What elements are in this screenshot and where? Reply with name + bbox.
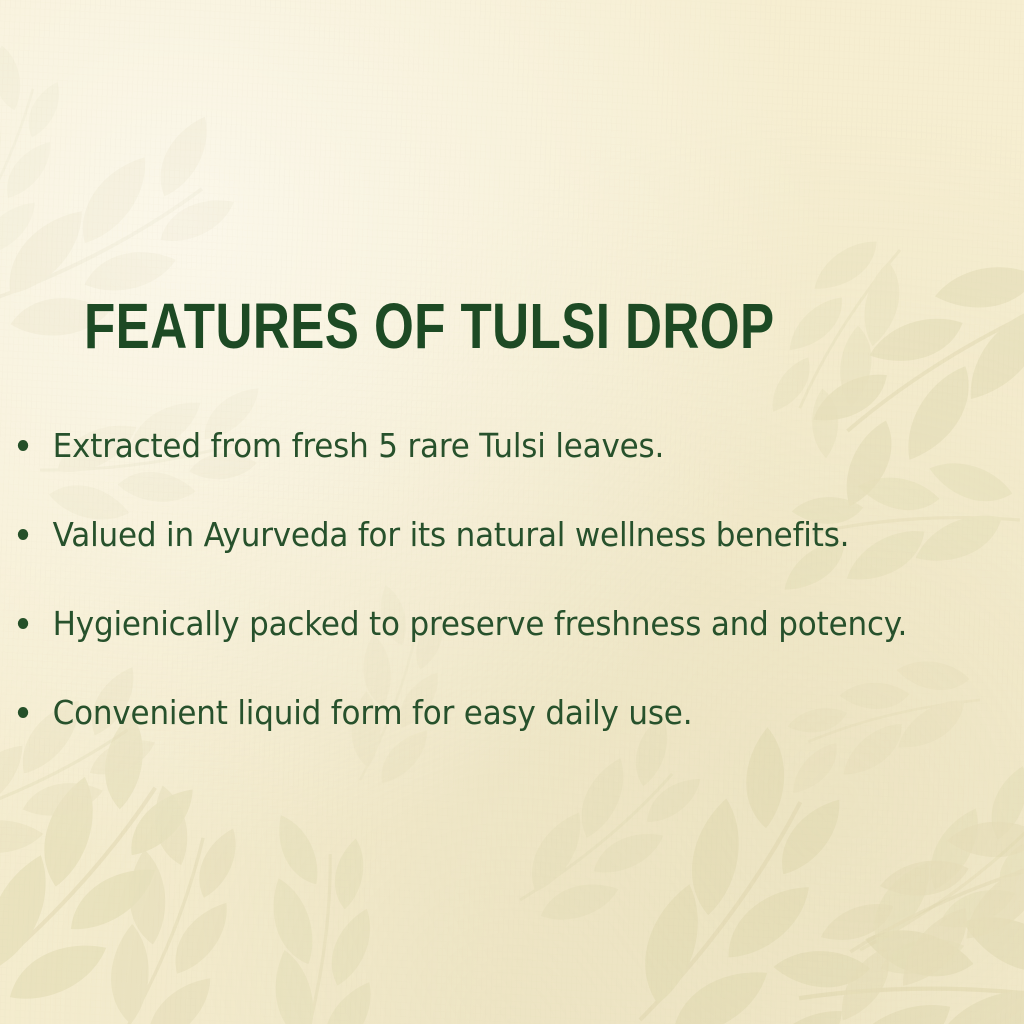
list-item: Convenient liquid form for easy daily us… [0,685,963,774]
poster-content: FEATURES OF TULSI DROP Extracted from fr… [0,0,1024,1024]
list-item: Valued in Ayurveda for its natural welln… [0,507,963,596]
list-item: Extracted from fresh 5 rare Tulsi leaves… [0,418,963,507]
page-title: FEATURES OF TULSI DROP [84,294,775,358]
list-item: Hygienically packed to preserve freshnes… [0,596,963,685]
bullet-dot-icon [18,440,28,451]
list-item-text: Extracted from fresh 5 rare Tulsi leaves… [53,418,665,474]
bullet-dot-icon [18,529,28,540]
bullet-dot-icon [18,707,28,718]
tulsi-features-poster: FEATURES OF TULSI DROP Extracted from fr… [0,0,1024,1024]
list-item-text: Convenient liquid form for easy daily us… [53,685,693,741]
features-list: Extracted from fresh 5 rare Tulsi leaves… [0,418,1024,774]
list-item-text: Valued in Ayurveda for its natural welln… [53,507,850,563]
list-item-text: Hygienically packed to preserve freshnes… [53,596,908,652]
bullet-dot-icon [18,618,28,629]
